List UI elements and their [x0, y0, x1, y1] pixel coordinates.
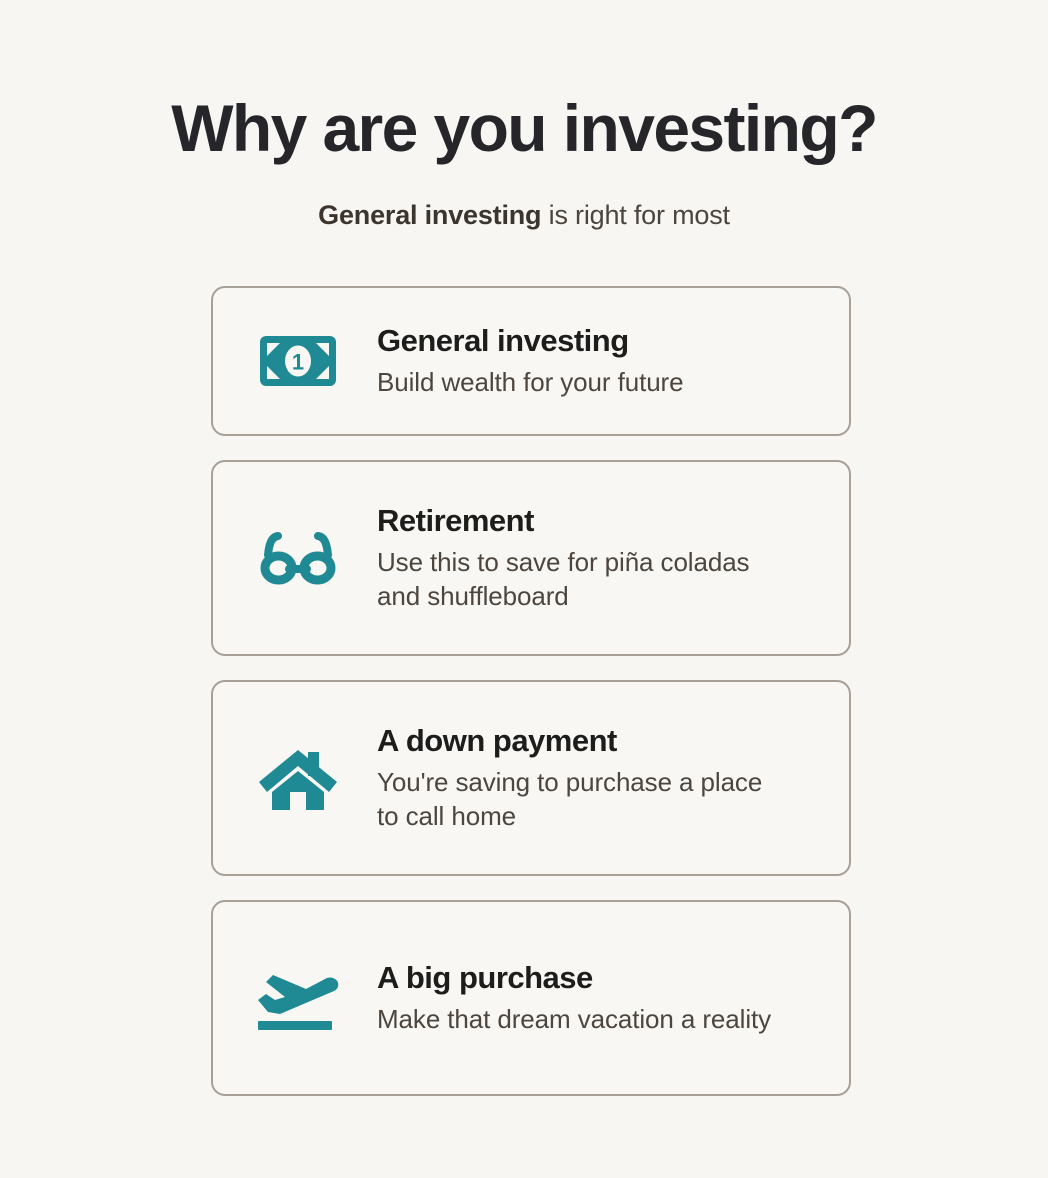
- goal-card-description: Build wealth for your future: [377, 365, 772, 400]
- goal-card-retirement[interactable]: Retirement Use this to save for piña col…: [211, 460, 851, 656]
- goal-card-down-payment[interactable]: A down payment You're saving to purchase…: [211, 680, 851, 876]
- goal-card-description: Use this to save for piña coladas and sh…: [377, 545, 772, 615]
- goal-card-big-purchase[interactable]: A big purchase Make that dream vacation …: [211, 900, 851, 1096]
- goal-card-title: A down payment: [377, 722, 825, 760]
- page-subtitle: General investing is right for most: [0, 198, 1048, 233]
- goal-card-title: General investing: [377, 322, 825, 360]
- investment-goal-selection-page: Why are you investing? General investing…: [0, 0, 1048, 1178]
- subtitle-emphasis: General investing: [318, 200, 541, 230]
- goal-option-list: 1 General investing Build wealth for you…: [211, 286, 851, 1096]
- airplane-takeoff-icon: [255, 955, 341, 1041]
- goal-card-general-investing[interactable]: 1 General investing Build wealth for you…: [211, 286, 851, 436]
- goal-card-text: A down payment You're saving to purchase…: [377, 722, 849, 834]
- subtitle-rest: is right for most: [541, 200, 729, 230]
- house-icon: [255, 735, 341, 821]
- goal-card-text: General investing Build wealth for your …: [377, 322, 849, 400]
- banknote-icon: 1: [255, 318, 341, 404]
- svg-text:1: 1: [292, 350, 304, 375]
- page-title: Why are you investing?: [0, 91, 1048, 167]
- goal-card-text: A big purchase Make that dream vacation …: [377, 959, 849, 1037]
- goal-card-title: A big purchase: [377, 959, 825, 997]
- goal-card-title: Retirement: [377, 502, 825, 540]
- goal-card-description: Make that dream vacation a reality: [377, 1002, 772, 1037]
- goal-card-text: Retirement Use this to save for piña col…: [377, 502, 849, 614]
- goal-card-description: You're saving to purchase a place to cal…: [377, 765, 772, 835]
- eyeglasses-icon: [255, 515, 341, 601]
